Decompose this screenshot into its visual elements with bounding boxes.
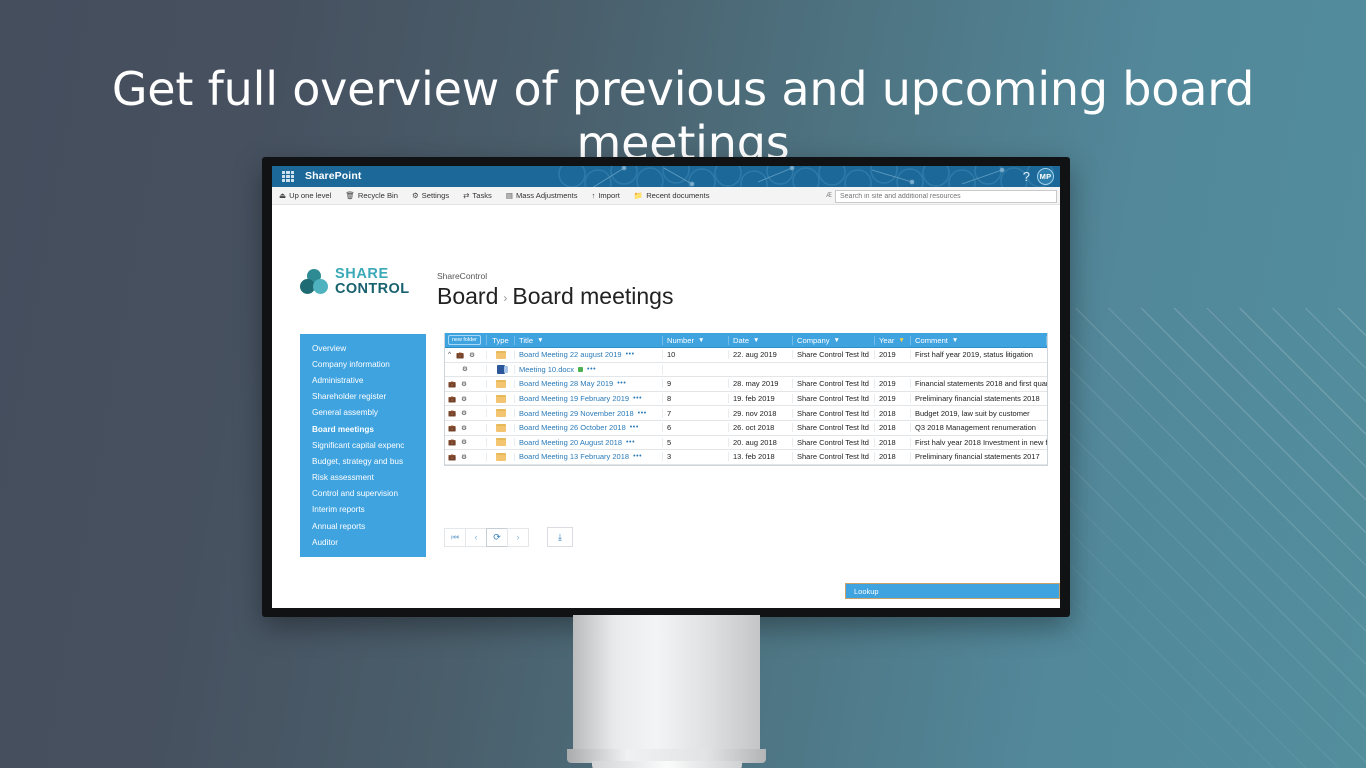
row-title[interactable]: Board Meeting 22 august 2019 ••• xyxy=(515,350,663,359)
folder-icon xyxy=(496,438,506,446)
briefcase-icon[interactable]: 💼 xyxy=(456,351,464,359)
toolbar-label: Settings xyxy=(422,191,449,200)
sidebar-item-significant-capital-expenditure[interactable]: Significant capital expenc xyxy=(300,437,426,453)
row-year: 2018 xyxy=(875,409,911,418)
first-page-button[interactable]: ⏮ xyxy=(444,528,466,547)
pagination-controls: ⏮ ‹ ⟳ › ⤓ xyxy=(444,527,573,547)
row-menu-icon[interactable]: ••• xyxy=(626,439,635,446)
search-input[interactable] xyxy=(835,190,1057,203)
toolbar-item-import[interactable]: ↑ Import xyxy=(592,191,620,200)
breadcrumb-current: Board meetings xyxy=(512,283,673,309)
row-actions: 💼 ⚙ xyxy=(445,380,487,388)
filter-icon-number[interactable]: ▼ xyxy=(698,337,704,344)
toolbar-label: Recycle Bin xyxy=(358,191,398,200)
sidebar-item-company-information[interactable]: Company information xyxy=(300,356,426,372)
sidebar-item-control-and-supervision[interactable]: Control and supervision xyxy=(300,486,426,502)
row-number: 5 xyxy=(663,438,729,447)
breadcrumb-separator: › xyxy=(498,291,512,305)
row-type xyxy=(487,395,515,403)
gear-icon[interactable]: ⚙ xyxy=(461,409,467,417)
row-type xyxy=(487,380,515,388)
row-actions: 💼 ⚙ xyxy=(445,438,487,446)
row-comment: First half year 2019, status litigation xyxy=(911,350,1047,359)
recycle-bin-icon: 🗑 xyxy=(345,191,355,200)
header-label: Company xyxy=(797,336,830,345)
row-title-link[interactable]: Meeting 10.docx xyxy=(519,365,574,374)
command-toolbar: ⏏ Up one level 🗑 Recycle Bin ⚙ Settings … xyxy=(272,187,1060,205)
row-number: 8 xyxy=(663,394,729,403)
toolbar-item-up-one-level[interactable]: ⏏ Up one level xyxy=(279,191,331,200)
header-cell-date[interactable]: Date ▼ xyxy=(729,336,793,345)
status-badge xyxy=(578,367,583,372)
row-title[interactable]: Board Meeting 28 May 2019 ••• xyxy=(515,379,663,388)
row-title-link[interactable]: Board Meeting 28 May 2019 xyxy=(519,379,613,388)
briefcase-icon[interactable]: 💼 xyxy=(448,424,456,432)
toolbar-item-recent-documents[interactable]: 📁 Recent documents xyxy=(634,191,710,200)
row-menu-icon[interactable]: ••• xyxy=(626,351,635,358)
briefcase-icon[interactable]: 💼 xyxy=(448,380,456,388)
toolbar-item-settings[interactable]: ⚙ Settings xyxy=(412,191,449,200)
filter-icon-year-active[interactable]: ▼ xyxy=(898,337,904,344)
collapse-chevron-icon[interactable]: ^ xyxy=(448,351,451,358)
toolbar-label: Tasks xyxy=(472,191,491,200)
header-label: Comment xyxy=(915,336,948,345)
header-label: Type xyxy=(492,336,508,345)
briefcase-icon[interactable]: 💼 xyxy=(448,438,456,446)
row-actions: 💼 ⚙ xyxy=(445,453,487,461)
table-row[interactable]: 💼 ⚙ Board Meeting 13 February 2018 ••• 3… xyxy=(445,450,1047,465)
row-year: 2018 xyxy=(875,452,911,461)
previous-page-button[interactable]: ‹ xyxy=(465,528,487,547)
row-comment: Q3 2018 Management renumeration xyxy=(911,423,1047,432)
row-date: 26. oct 2018 xyxy=(729,423,793,432)
breadcrumb-parent[interactable]: Board xyxy=(437,283,498,309)
table-row[interactable]: 💼 ⚙ Board Meeting 26 October 2018 ••• 6 … xyxy=(445,421,1047,436)
toolbar-item-recycle-bin[interactable]: 🗑 Recycle Bin xyxy=(345,191,398,200)
row-number: 3 xyxy=(663,452,729,461)
row-title[interactable]: Board Meeting 26 October 2018 ••• xyxy=(515,423,663,432)
row-number: 9 xyxy=(663,379,729,388)
folder-icon xyxy=(496,424,506,432)
row-company: Share Control Test ltd xyxy=(793,409,875,418)
table-row[interactable]: ^ 💼 ⚙ Board Meeting 22 august 2019 ••• 1… xyxy=(445,348,1047,363)
row-number: 6 xyxy=(663,423,729,432)
row-type xyxy=(487,409,515,417)
gear-icon: ⚙ xyxy=(412,191,419,200)
row-comment: Financial statements 2018 and first quar… xyxy=(911,379,1047,388)
sharepoint-label[interactable]: SharePoint xyxy=(305,170,361,182)
logo-line-1: SHARE xyxy=(335,267,410,282)
table-header-row: new folder Type Title ▼ Number ▼ Date xyxy=(445,333,1047,348)
row-title[interactable]: Board Meeting 20 August 2018 ••• xyxy=(515,438,663,447)
logo-mark xyxy=(300,269,330,295)
row-title-link[interactable]: Board Meeting 26 October 2018 xyxy=(519,423,626,432)
gear-icon[interactable]: ⚙ xyxy=(461,453,467,461)
header-cell-number[interactable]: Number ▼ xyxy=(663,336,729,345)
row-actions: 💼 ⚙ xyxy=(445,424,487,432)
row-company: Share Control Test ltd xyxy=(793,423,875,432)
row-type xyxy=(487,424,515,432)
row-comment: First halv year 2018 Investment in new f… xyxy=(911,438,1047,447)
row-menu-icon[interactable]: ••• xyxy=(630,424,639,431)
table-row[interactable]: 💼 ⚙ Board Meeting 28 May 2019 ••• 9 28. … xyxy=(445,377,1047,392)
up-one-level-icon: ⏏ xyxy=(279,191,286,200)
row-date: 13. feb 2018 xyxy=(729,452,793,461)
folder-icon xyxy=(496,395,506,403)
monitor-stand-base xyxy=(592,761,742,768)
row-company: Share Control Test ltd xyxy=(793,438,875,447)
folder-icon xyxy=(496,453,506,461)
import-icon: ↑ xyxy=(592,191,596,200)
row-date: 20. aug 2018 xyxy=(729,438,793,447)
row-menu-icon[interactable]: ••• xyxy=(617,380,626,387)
header-cell-title[interactable]: Title ▼ xyxy=(515,336,663,345)
gear-icon[interactable]: ⚙ xyxy=(462,365,468,373)
row-company: Share Control Test ltd xyxy=(793,452,875,461)
row-year: 2019 xyxy=(875,350,911,359)
sidebar: Overview Company information Administrat… xyxy=(300,334,426,557)
screen: SharePoint ? MP ⏏ Up one level 🗑 Recycle… xyxy=(272,166,1060,608)
row-date: 29. nov 2018 xyxy=(729,409,793,418)
toolbar-item-tasks[interactable]: ⇄ Tasks xyxy=(463,191,492,200)
toolbar-label: Import xyxy=(598,191,620,200)
header-label: Date xyxy=(733,336,749,345)
refresh-button[interactable]: ⟳ xyxy=(486,528,508,547)
sidebar-item-annual-reports[interactable]: Annual reports xyxy=(300,518,426,534)
row-year: 2019 xyxy=(875,394,911,403)
row-actions: 💼 ⚙ xyxy=(445,409,487,417)
folder-icon: 📁 xyxy=(634,191,643,200)
avatar[interactable]: MP xyxy=(1037,168,1054,185)
table-row[interactable]: 💼 ⚙ Board Meeting 19 February 2019 ••• 8… xyxy=(445,392,1047,407)
sidebar-item-risk-assessment[interactable]: Risk assessment xyxy=(300,470,426,486)
row-company: Share Control Test ltd xyxy=(793,350,875,359)
row-number: 7 xyxy=(663,409,729,418)
table-row[interactable]: ⚙ Meeting 10.docx ••• xyxy=(445,363,1047,378)
row-type xyxy=(487,453,515,461)
board-meetings-table: new folder Type Title ▼ Number ▼ Date xyxy=(444,333,1048,466)
row-actions: ^ 💼 ⚙ xyxy=(445,351,487,359)
gear-icon[interactable]: ⚙ xyxy=(461,395,467,403)
row-comment: Budget 2019, law suit by customer xyxy=(911,409,1047,418)
sidebar-item-auditor[interactable]: Auditor xyxy=(300,534,426,550)
row-title[interactable]: Board Meeting 29 November 2018 ••• xyxy=(515,409,663,418)
header-label: Number xyxy=(667,336,694,345)
sidebar-item-budget-strategy-and-business[interactable]: Budget, strategy and bus xyxy=(300,453,426,469)
sidebar-item-board-meetings[interactable]: Board meetings xyxy=(300,421,426,437)
row-type xyxy=(487,365,515,374)
question-mark-icon[interactable]: ? xyxy=(1023,170,1030,183)
toolbar-label: Recent documents xyxy=(646,191,709,200)
sharepoint-suite-bar: SharePoint ? MP xyxy=(272,166,1060,187)
monitor-mockup: SharePoint ? MP ⏏ Up one level 🗑 Recycle… xyxy=(262,157,1070,617)
filter-icon-date[interactable]: ▼ xyxy=(753,337,759,344)
row-title[interactable]: Board Meeting 13 February 2018 ••• xyxy=(515,452,663,461)
folder-icon xyxy=(496,351,506,359)
table-row[interactable]: 💼 ⚙ Board Meeting 20 August 2018 ••• 5 2… xyxy=(445,436,1047,451)
monitor-stand-neck xyxy=(573,615,760,753)
export-button[interactable]: ⤓ xyxy=(547,527,573,547)
briefcase-icon[interactable]: 💼 xyxy=(448,453,456,461)
headline: Get full overview of previous and upcomi… xyxy=(0,62,1366,170)
row-title[interactable]: Board Meeting 19 February 2019 ••• xyxy=(515,394,663,403)
row-title-link[interactable]: Board Meeting 13 February 2018 xyxy=(519,452,629,461)
header-cell-company[interactable]: Company ▼ xyxy=(793,336,875,345)
sidebar-item-interim-reports[interactable]: Interim reports xyxy=(300,502,426,518)
row-actions: 💼 ⚙ xyxy=(445,395,487,403)
row-title-link[interactable]: Board Meeting 19 February 2019 xyxy=(519,394,629,403)
header-cell-year[interactable]: Year ▼ xyxy=(875,336,911,345)
new-folder-button[interactable]: new folder xyxy=(448,335,481,345)
search-prefix-label: Æ xyxy=(826,193,832,199)
gear-icon[interactable]: ⚙ xyxy=(461,380,467,388)
header-label: Title xyxy=(519,336,533,345)
header-cell-type[interactable]: Type xyxy=(487,336,515,345)
row-year: 2019 xyxy=(875,379,911,388)
filter-icon-comment[interactable]: ▼ xyxy=(952,337,958,344)
row-title-link[interactable]: Board Meeting 29 November 2018 xyxy=(519,409,634,418)
row-comment: Preliminary financial statements 2018 xyxy=(911,394,1047,403)
row-title-link[interactable]: Board Meeting 22 august 2019 xyxy=(519,350,622,359)
logo-line-2: CONTROL xyxy=(335,282,410,297)
page-title: Board›Board meetings xyxy=(437,283,673,310)
row-menu-icon[interactable]: ••• xyxy=(587,366,596,373)
tasks-icon: ⇄ xyxy=(463,191,469,200)
row-menu-icon[interactable]: ••• xyxy=(633,453,642,460)
row-number: 10 xyxy=(663,350,729,359)
waffle-grid-icon[interactable] xyxy=(282,171,294,182)
gear-icon[interactable]: ⚙ xyxy=(469,351,475,359)
filter-icon-title[interactable]: ▼ xyxy=(537,337,543,344)
row-date: 19. feb 2019 xyxy=(729,394,793,403)
mass-adjustments-icon: ▤ xyxy=(506,191,513,200)
gear-icon[interactable]: ⚙ xyxy=(461,424,467,432)
word-document-icon xyxy=(497,365,505,374)
header-cell-comment[interactable]: Comment ▼ xyxy=(911,336,1047,345)
row-title[interactable]: Meeting 10.docx ••• xyxy=(515,365,663,374)
filter-icon-company[interactable]: ▼ xyxy=(834,337,840,344)
suitebar-circles-pattern xyxy=(272,166,1060,187)
row-company: Share Control Test ltd xyxy=(793,394,875,403)
page-body: SHARE CONTROL ShareControl Board›Board m… xyxy=(272,205,1060,608)
row-date: 22. aug 2019 xyxy=(729,350,793,359)
row-company: Share Control Test ltd xyxy=(793,379,875,388)
folder-icon xyxy=(496,409,506,417)
next-page-button[interactable]: › xyxy=(507,528,529,547)
sharecontrol-logo-icon: SHARE CONTROL xyxy=(300,267,410,296)
header-label: Year xyxy=(879,336,894,345)
gear-icon[interactable]: ⚙ xyxy=(461,438,467,446)
header-cell-actions: new folder xyxy=(445,335,487,345)
row-comment: Preliminary financial statements 2017 xyxy=(911,452,1047,461)
row-menu-icon[interactable]: ••• xyxy=(638,410,647,417)
folder-icon xyxy=(496,380,506,388)
briefcase-icon[interactable]: 💼 xyxy=(448,395,456,403)
row-type xyxy=(487,351,515,359)
briefcase-icon[interactable]: 💼 xyxy=(448,409,456,417)
table-row[interactable]: 💼 ⚙ Board Meeting 29 November 2018 ••• 7… xyxy=(445,406,1047,421)
row-title-link[interactable]: Board Meeting 20 August 2018 xyxy=(519,438,622,447)
row-type xyxy=(487,438,515,446)
row-year: 2018 xyxy=(875,423,911,432)
sidebar-item-overview[interactable]: Overview xyxy=(300,340,426,356)
sidebar-item-shareholder-register[interactable]: Shareholder register xyxy=(300,389,426,405)
toolbar-item-mass-adjustments[interactable]: ▤ Mass Adjustments xyxy=(506,191,578,200)
row-actions: ⚙ xyxy=(445,365,487,373)
toolbar-label: Up one level xyxy=(289,191,331,200)
row-date: 28. may 2019 xyxy=(729,379,793,388)
lookup-bar[interactable]: Lookup xyxy=(845,583,1060,599)
sidebar-item-administrative[interactable]: Administrative xyxy=(300,372,426,388)
sidebar-item-general-assembly[interactable]: General assembly xyxy=(300,405,426,421)
toolbar-label: Mass Adjustments xyxy=(516,191,578,200)
row-year: 2018 xyxy=(875,438,911,447)
breadcrumb-site[interactable]: ShareControl xyxy=(437,271,487,281)
row-menu-icon[interactable]: ••• xyxy=(633,395,642,402)
